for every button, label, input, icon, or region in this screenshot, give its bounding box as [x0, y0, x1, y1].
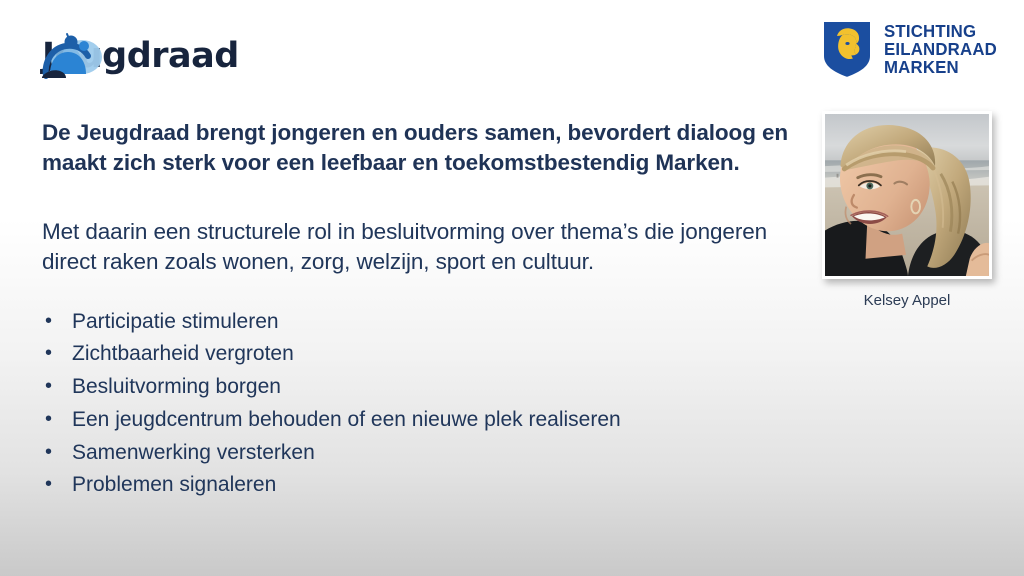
intro-paragraph: Met daarin een structurele rol in beslui… [42, 178, 790, 277]
bullet-icon: • [42, 474, 72, 495]
list-item-label: Participatie stimuleren [72, 311, 790, 333]
list-item-label: Samenwerking versterken [72, 442, 790, 464]
list-item: • Zichtbaarheid vergroten [42, 343, 790, 376]
eilandraad-wordmark: STICHTING EILANDRAAD MARKEN [884, 22, 997, 77]
headline: De Jeugdraad brengt jongeren en ouders s… [42, 118, 790, 178]
list-item: • Participatie stimuleren [42, 311, 790, 344]
portrait-block: Kelsey Appel [822, 111, 992, 310]
bullet-icon: • [42, 376, 72, 397]
bullet-icon: • [42, 442, 72, 463]
list-item: • Een jeugdcentrum behouden of een nieuw… [42, 409, 790, 442]
bullet-icon: • [42, 311, 72, 332]
eilandraad-line-2: EILANDRAAD [884, 40, 997, 58]
list-item-label: Zichtbaarheid vergroten [72, 343, 790, 365]
slide-canvas: Jeugdraad [0, 0, 1024, 576]
jeugdraad-logo: Jeugdraad [42, 28, 239, 84]
bullet-icon: • [42, 409, 72, 430]
list-item-label: Een jeugdcentrum behouden of een nieuwe … [72, 409, 790, 431]
portrait-photo [825, 114, 989, 276]
eilandraad-line-1: STICHTING [884, 22, 997, 40]
portrait-frame [822, 111, 992, 279]
eilandraad-line-3: MARKEN [884, 58, 997, 76]
list-item: • Samenwerking versterken [42, 442, 790, 475]
bullet-icon: • [42, 343, 72, 364]
marken-coat-of-arms-icon [822, 20, 872, 78]
portrait-caption: Kelsey Appel [822, 292, 992, 310]
goals-bullet-list: • Participatie stimuleren • Zichtbaarhei… [42, 277, 790, 508]
list-item: • Problemen signaleren [42, 474, 790, 507]
list-item-label: Besluitvorming borgen [72, 376, 790, 398]
list-item: • Besluitvorming borgen [42, 376, 790, 409]
slide-content: De Jeugdraad brengt jongeren en ouders s… [42, 118, 790, 507]
eilandraad-logo: STICHTING EILANDRAAD MARKEN [822, 20, 1002, 78]
jeugdraad-wordmark: Jeugdraad [42, 39, 239, 74]
list-item-label: Problemen signaleren [72, 474, 790, 496]
